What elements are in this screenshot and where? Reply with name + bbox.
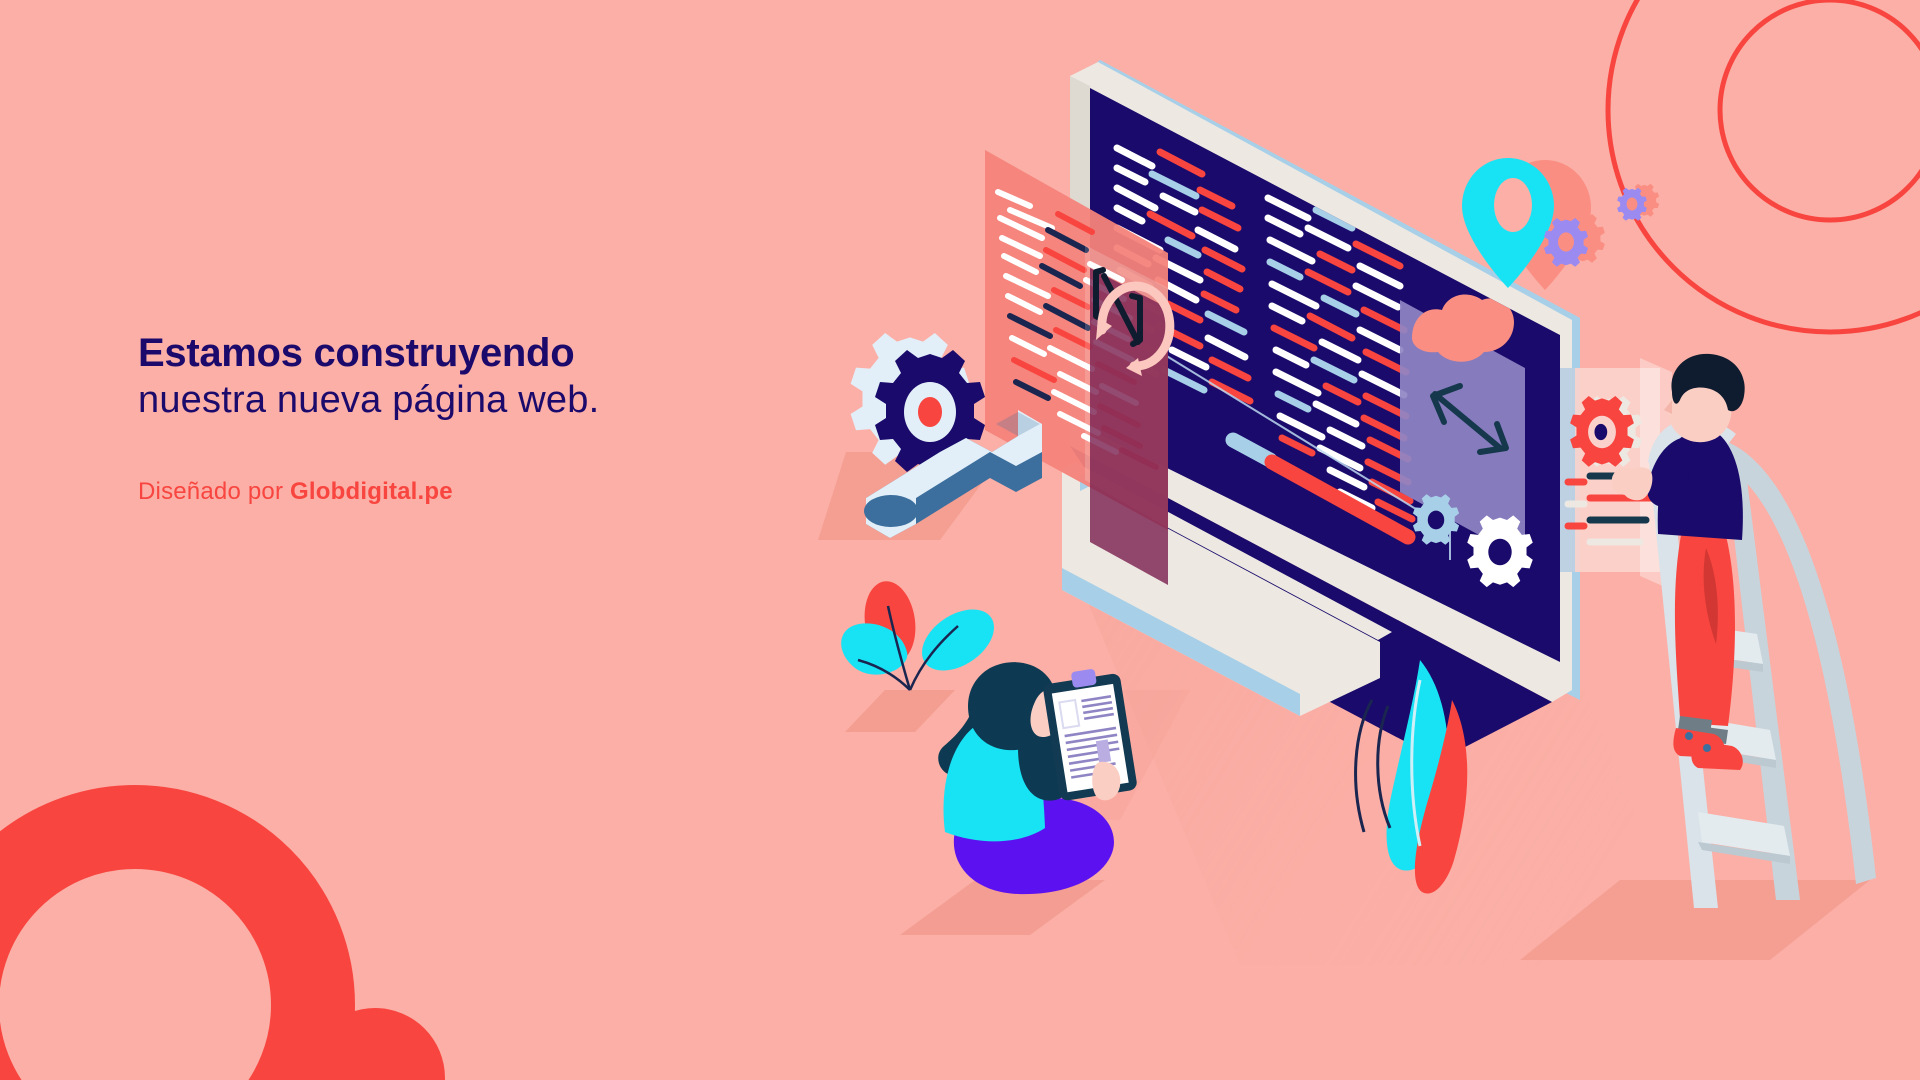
headline-line-1: Estamos construyendo (138, 330, 838, 376)
page-root: Estamos construyendo nuestra nueva págin… (0, 0, 1920, 1080)
construction-illustration (0, 0, 1920, 1080)
hero-copy: Estamos construyendo nuestra nueva págin… (138, 330, 838, 506)
location-pin-hole (1494, 178, 1532, 232)
designer-credit: Diseñado por Globdigital.pe (138, 422, 838, 506)
credit-prefix: Diseñado por (138, 478, 290, 505)
page-title: Estamos construyendo nuestra nueva págin… (138, 330, 838, 422)
wrench-ring-hole (864, 495, 918, 527)
headline-line-2: nuestra nueva página web. (138, 378, 838, 422)
designer-credit-link[interactable]: Globdigital.pe (290, 478, 453, 505)
